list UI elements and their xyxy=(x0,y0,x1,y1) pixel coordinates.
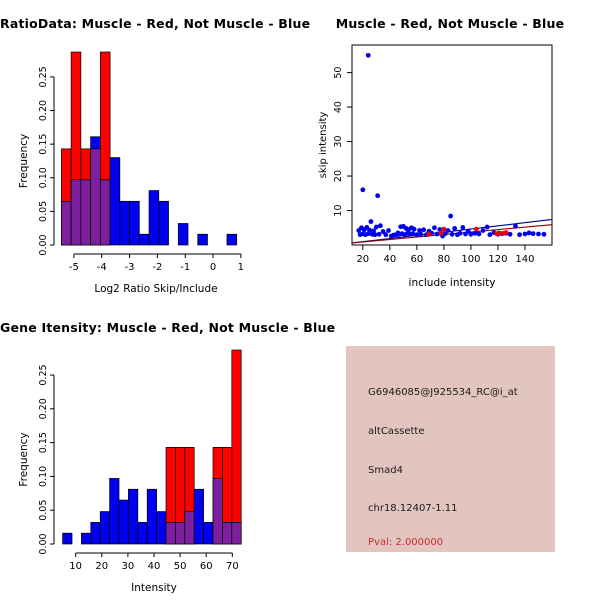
scatter-point xyxy=(435,232,440,237)
pval-text: Pval: 2.000000 xyxy=(368,537,443,548)
histogram-bar xyxy=(147,489,156,544)
histogram-bar-overlap xyxy=(100,180,110,245)
scatter-point xyxy=(427,232,432,237)
y-tick-label: 0.20 xyxy=(38,398,49,419)
histogram-bar-overlap xyxy=(175,522,184,544)
y-tick-label: 10 xyxy=(333,204,344,216)
x-axis-title: include intensity xyxy=(409,277,496,289)
histogram-bar xyxy=(110,158,120,245)
histogram-bar xyxy=(178,223,188,245)
scatter-point xyxy=(536,232,541,237)
probe-id-text: G6946085@J925534_RC@i_at xyxy=(368,387,518,398)
scatter-point xyxy=(450,232,455,237)
scatter-point xyxy=(481,228,486,233)
x-axis-title: Log2 Ratio Skip/Include xyxy=(94,283,217,295)
histogram-bar xyxy=(204,522,213,544)
histogram-bar-overlap xyxy=(232,522,241,544)
y-tick-label: 0.00 xyxy=(38,533,49,554)
y-tick-label: 0.10 xyxy=(38,167,49,188)
histogram-bar xyxy=(100,512,109,544)
x-tick-label: 1 xyxy=(238,262,244,273)
histogram-bar xyxy=(157,512,166,544)
ratio-histogram-plot: 0.000.050.100.150.200.25Frequency-5-4-3-… xyxy=(0,0,300,300)
ratio_histogram-bars xyxy=(61,52,236,245)
ratio-histogram-title: RatioData: Muscle - Red, Not Muscle - Bl… xyxy=(0,16,300,31)
x-tick-label: 30 xyxy=(122,561,135,572)
histogram-bar xyxy=(63,533,72,544)
scatter-point xyxy=(367,228,372,233)
x-tick-label: -3 xyxy=(125,262,135,273)
scatter-point xyxy=(474,227,479,232)
scatter-point xyxy=(477,232,482,237)
histogram-bar-overlap xyxy=(71,180,81,245)
scatter-point xyxy=(517,232,522,237)
x-tick-label: 20 xyxy=(356,254,369,265)
scatter-point xyxy=(531,231,536,236)
histogram-bar xyxy=(120,201,130,245)
x-tick-label: 10 xyxy=(69,561,82,572)
histogram-bar xyxy=(139,234,149,245)
y-axis-title: Frequency xyxy=(18,432,30,486)
intensity-scatter-title: Muscle - Red, Not Muscle - Blue xyxy=(300,16,600,31)
histogram-bar-overlap xyxy=(61,201,71,245)
annotation-info-panel: G6946085@J925534_RC@i_at altCassette Sma… xyxy=(346,346,555,552)
gene-histogram-title: Gene Itensity: Muscle - Red, Not Muscle … xyxy=(0,320,300,335)
scatter-series xyxy=(356,53,546,238)
x-tick-label: -2 xyxy=(152,262,162,273)
scatter-point xyxy=(378,223,383,228)
histogram-bar xyxy=(227,234,237,245)
histogram-bar xyxy=(138,522,147,544)
locus-text: chr18.12407-1.11 xyxy=(368,503,458,514)
x-tick-label: -1 xyxy=(180,262,190,273)
y-tick-label: 0.05 xyxy=(38,500,49,521)
histogram-bar-overlap xyxy=(213,478,222,544)
y-tick-label: 0.25 xyxy=(38,66,49,87)
scatter-point xyxy=(439,231,444,236)
ratio_histogram-axes: 0.000.050.100.150.200.25Frequency-5-4-3-… xyxy=(18,66,244,295)
scatter-axes: 1020304050skip intensity2040608010012014… xyxy=(318,67,535,289)
x-tick-label: -4 xyxy=(97,262,107,273)
histogram-bar xyxy=(194,489,203,544)
y-tick-label: 30 xyxy=(333,136,344,148)
x-tick-label: 60 xyxy=(200,561,213,572)
scatter-point xyxy=(386,228,391,233)
scatter-point xyxy=(504,230,509,235)
y-tick-label: 0.00 xyxy=(38,234,49,255)
histogram-bar xyxy=(130,201,140,245)
scatter-point xyxy=(375,193,380,198)
histogram-bar xyxy=(91,522,100,544)
gene-histogram-panel: Gene Itensity: Muscle - Red, Not Muscle … xyxy=(0,300,300,600)
gene-histogram-plot: 0.000.050.100.150.200.25Frequency1020304… xyxy=(0,300,300,600)
histogram-bar xyxy=(149,191,159,245)
y-tick-label: 0.25 xyxy=(38,364,49,385)
histogram-bar xyxy=(232,350,241,544)
scatter-point xyxy=(458,231,463,236)
scatter-point xyxy=(366,53,371,58)
scatter-point xyxy=(485,225,490,230)
histogram-bar xyxy=(81,533,90,544)
scatter-point xyxy=(527,231,532,236)
scatter-point xyxy=(377,232,382,237)
scatter-point xyxy=(369,219,374,224)
scatter-point xyxy=(419,232,424,237)
histogram-bar xyxy=(110,478,119,544)
histogram-bar xyxy=(119,500,128,544)
scatter-point xyxy=(469,232,474,237)
gene_histogram-bars xyxy=(63,350,242,544)
y-tick-label: 20 xyxy=(333,170,344,182)
y-axis-title: skip intensity xyxy=(318,112,329,179)
scatter-point xyxy=(432,225,437,230)
gene_histogram-axes: 0.000.050.100.150.200.25Frequency1020304… xyxy=(18,364,239,594)
event-type-text: altCassette xyxy=(368,426,425,437)
y-tick-label: 50 xyxy=(333,67,344,79)
histogram-bar-overlap xyxy=(222,522,231,544)
histogram-bar-overlap xyxy=(185,512,194,544)
scatter-point xyxy=(460,225,465,230)
x-tick-label: 120 xyxy=(488,254,507,265)
histogram-bar-overlap xyxy=(166,522,175,544)
histogram-bar xyxy=(198,234,208,245)
x-axis-title: Intensity xyxy=(131,582,177,594)
x-tick-label: 100 xyxy=(461,254,480,265)
scatter-point xyxy=(513,224,518,229)
x-tick-label: 140 xyxy=(515,254,534,265)
y-tick-label: 0.05 xyxy=(38,201,49,222)
scatter-point xyxy=(441,227,446,232)
y-tick-label: 0.15 xyxy=(38,134,49,155)
scatter-point xyxy=(383,232,388,237)
x-tick-label: 20 xyxy=(95,561,108,572)
y-tick-label: 0.20 xyxy=(38,100,49,121)
histogram-bar xyxy=(159,201,169,245)
y-tick-label: 0.10 xyxy=(38,466,49,487)
x-tick-label: 70 xyxy=(226,561,239,572)
scatter-point xyxy=(421,227,426,232)
y-tick-label: 40 xyxy=(333,101,344,113)
gene-symbol-text: Smad4 xyxy=(368,465,403,476)
scatter-point xyxy=(541,232,546,237)
x-tick-label: 40 xyxy=(383,254,396,265)
scatter-point xyxy=(494,231,499,236)
x-tick-label: -5 xyxy=(69,262,79,273)
scatter-point xyxy=(452,226,457,231)
scatter-point xyxy=(412,227,417,232)
histogram-bar-overlap xyxy=(91,149,101,245)
x-tick-label: 40 xyxy=(148,561,161,572)
histogram-bar-overlap xyxy=(81,180,91,245)
scatter-point xyxy=(523,232,528,237)
y-tick-label: 0.15 xyxy=(38,432,49,453)
x-tick-label: 80 xyxy=(438,254,451,265)
intensity-scatter-panel: Muscle - Red, Not Muscle - Blue 10203040… xyxy=(300,0,600,300)
scatter-point xyxy=(360,187,365,192)
intensity-scatter-plot: 1020304050skip intensity2040608010012014… xyxy=(300,0,600,300)
y-axis-title: Frequency xyxy=(18,134,30,188)
ratio-histogram-panel: RatioData: Muscle - Red, Not Muscle - Bl… xyxy=(0,0,300,300)
x-tick-label: 0 xyxy=(210,262,216,273)
scatter-point xyxy=(448,214,453,219)
scatter-point xyxy=(473,231,478,236)
histogram-bar xyxy=(128,489,137,544)
scatter-point xyxy=(410,231,415,236)
x-tick-label: 60 xyxy=(410,254,423,265)
x-tick-label: 50 xyxy=(174,561,187,572)
scatter-point xyxy=(487,232,492,237)
